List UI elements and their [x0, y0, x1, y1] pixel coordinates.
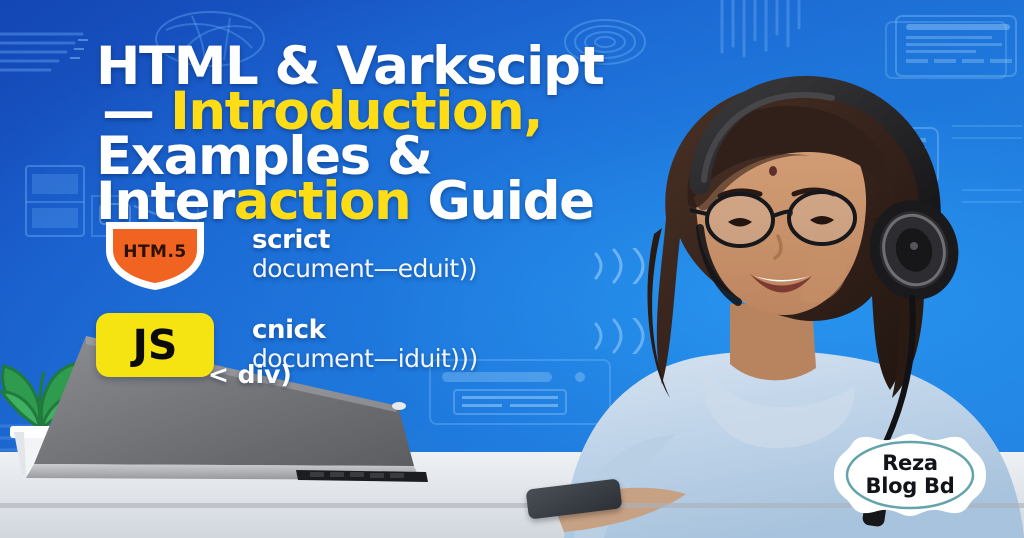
div-tag-text: < div): [208, 360, 292, 389]
banner-title: HTML & Varkscipt — Introduction, Example…: [96, 44, 956, 224]
tick-marks-decor: [60, 36, 90, 76]
badge-row-html5: HTM.5 scrict document—eduit)): [96, 218, 478, 292]
code-block-html5: scrict document—eduit)): [252, 226, 477, 284]
logo-badge[interactable]: Reza Blog Bd: [822, 432, 998, 518]
html5-shield-icon: HTM.5: [96, 216, 214, 294]
code-keyword-js: cnick: [252, 316, 478, 344]
logo-line-2: Blog Bd: [866, 475, 955, 498]
tech-badge-list: HTM.5 scrict document—eduit)) JS cnick d…: [96, 218, 478, 382]
js-square-icon: JS: [96, 313, 214, 377]
horizontal-lines-decor: [0, 30, 90, 74]
code-keyword-html5: scrict: [252, 226, 477, 254]
js-badge-label: JS: [133, 321, 178, 369]
code-line-html5: document—eduit)): [252, 254, 477, 284]
logo-text: Reza Blog Bd: [866, 452, 955, 498]
html5-badge-label: HTM.5: [96, 242, 214, 262]
logo-line-1: Reza: [866, 452, 955, 475]
banner-root: HTML & Varkscipt — Introduction, Example…: [0, 0, 1024, 538]
